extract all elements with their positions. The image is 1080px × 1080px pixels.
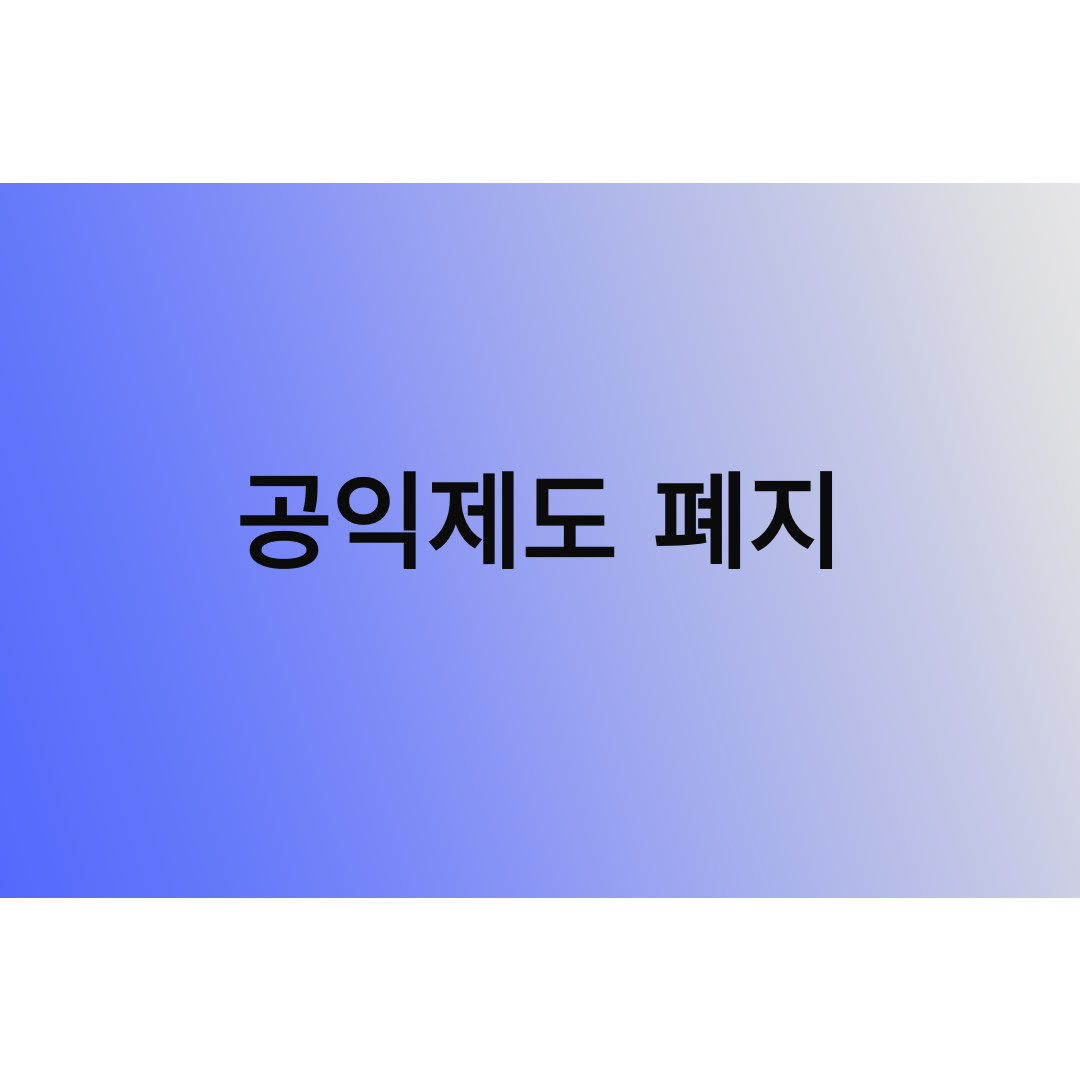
slide-content-area: 공익제도 폐지 [0, 183, 1080, 898]
letterbox-band-bottom [0, 898, 1080, 1080]
gradient-slide-background: 공익제도 폐지 [0, 183, 1080, 898]
slide-headline: 공익제도 폐지 [237, 471, 844, 575]
slide-canvas: 공익제도 폐지 [0, 0, 1080, 1080]
letterbox-band-top [0, 0, 1080, 183]
